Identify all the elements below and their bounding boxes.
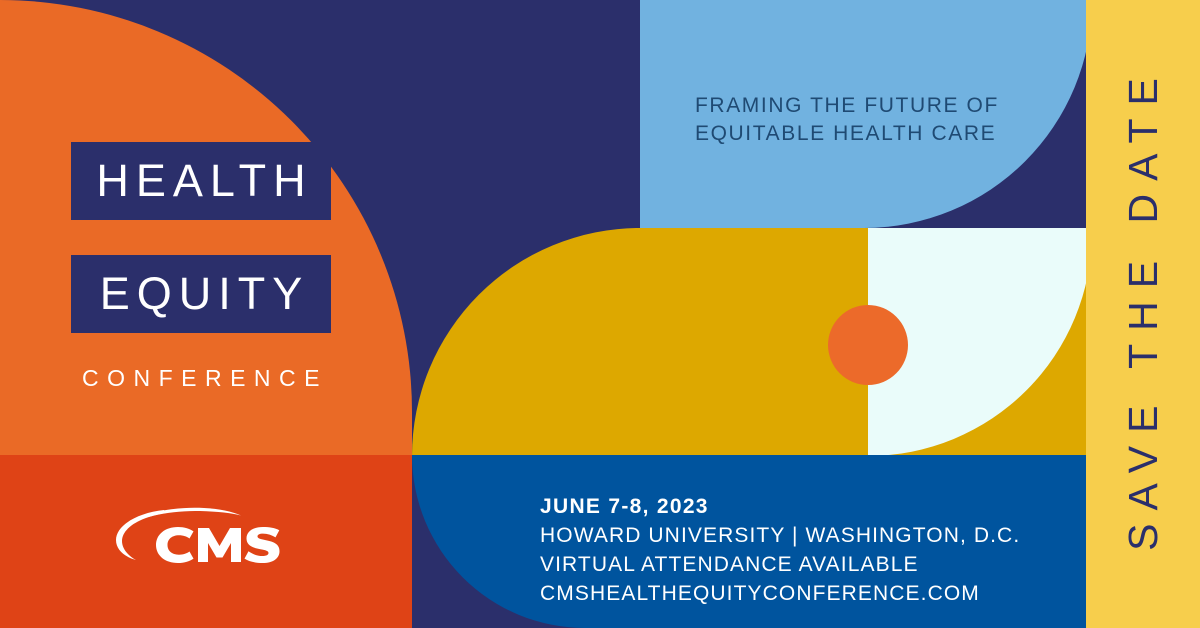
title-line-health: HEALTH [71, 142, 331, 220]
event-details: JUNE 7-8, 2023 HOWARD UNIVERSITY | WASHI… [540, 492, 1020, 608]
tagline-line-2: EQUITABLE HEALTH CARE [695, 120, 999, 148]
title-line-equity: EQUITY [71, 255, 331, 333]
orange-circle-accent [828, 305, 908, 385]
tagline: FRAMING THE FUTURE OF EQUITABLE HEALTH C… [695, 92, 999, 148]
save-the-date-text: SAVE THE DATE [1120, 65, 1167, 564]
conference-title-lockup: HEALTH EQUITY CONFERENCE [71, 142, 331, 392]
event-website[interactable]: CMSHEALTHEQUITYCONFERENCE.COM [540, 579, 1020, 608]
event-venue: HOWARD UNIVERSITY | WASHINGTON, D.C. [540, 521, 1020, 550]
title-word-conference: CONFERENCE [71, 365, 331, 392]
cms-logo [108, 500, 293, 572]
tagline-line-1: FRAMING THE FUTURE OF [695, 92, 999, 120]
save-the-date-poster: HEALTH EQUITY CONFERENCE FRAMING THE FUT… [0, 0, 1200, 628]
event-date: JUNE 7-8, 2023 [540, 492, 1020, 521]
event-virtual: VIRTUAL ATTENDANCE AVAILABLE [540, 550, 1020, 579]
save-the-date-banner: SAVE THE DATE [1086, 0, 1200, 628]
